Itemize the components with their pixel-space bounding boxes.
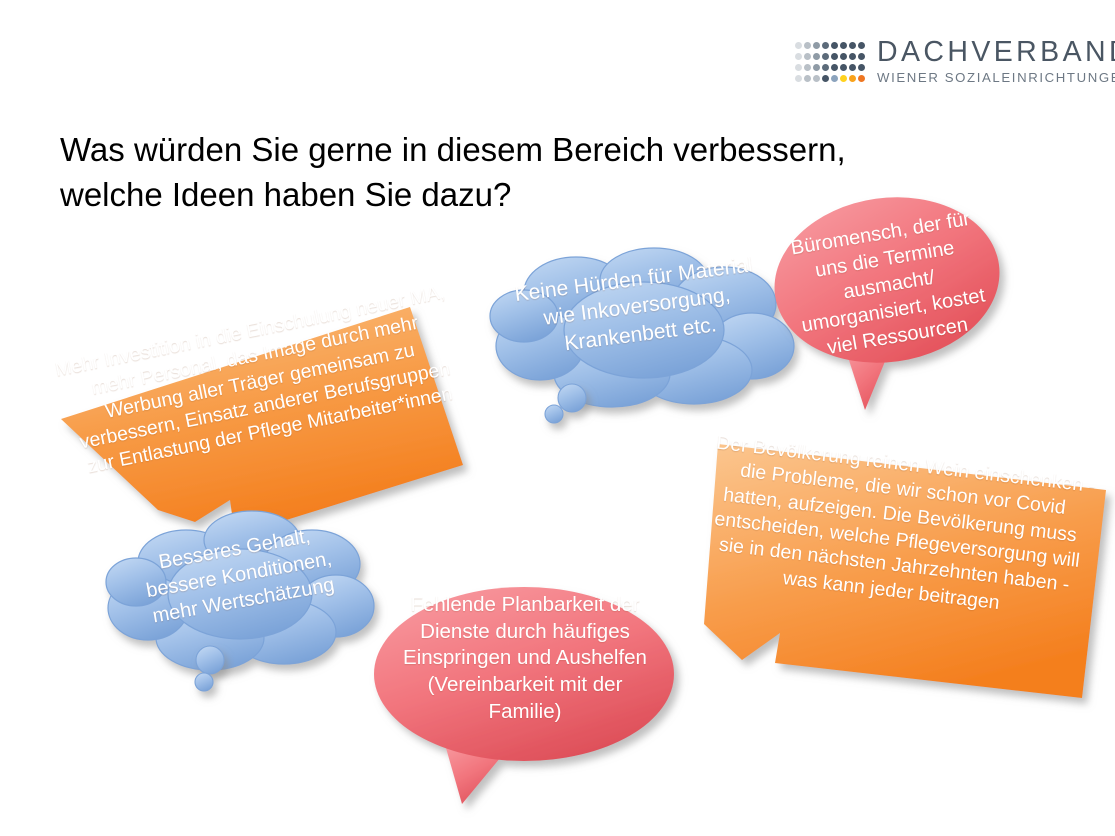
logo-dot-r1-c2	[804, 42, 811, 49]
callout-box-right-shape	[690, 428, 1110, 708]
logo-dot-grid	[795, 42, 867, 86]
logo-dot-r4-c6	[840, 75, 847, 82]
callout-box-left-shape	[40, 290, 490, 520]
logo-dot-r1-c6	[840, 42, 847, 49]
speech-ellipse-top-right-shape	[765, 192, 1015, 417]
logo-dot-r4-c5	[831, 75, 838, 82]
logo-dot-r2-c6	[840, 53, 847, 60]
logo-subtitle: WIENER SOZIALEINRICHTUNGEN	[877, 70, 1115, 85]
logo-dot-r4-c4	[822, 75, 829, 82]
logo-dot-r3-c7	[849, 64, 856, 71]
thought-cloud-bottom-left	[100, 502, 380, 707]
logo-dot-r1-c7	[849, 42, 856, 49]
logo-dot-r3-c1	[795, 64, 802, 71]
logo-wordmark: DACHVERBAND WIENER SOZIALEINRICHTUNGEN	[877, 38, 1115, 85]
logo-dot-r4-c2	[804, 75, 811, 82]
callout-box-left	[40, 290, 490, 520]
speech-ellipse-top-right	[765, 192, 1015, 417]
logo-dot-r3-c8	[858, 64, 865, 71]
logo-dot-r4-c1	[795, 75, 802, 82]
logo-dot-r1-c1	[795, 42, 802, 49]
logo-dot-r2-c3	[813, 53, 820, 60]
slide-canvas: DACHVERBAND WIENER SOZIALEINRICHTUNGEN W…	[0, 0, 1115, 836]
slide-title-line-1: Was würden Sie gerne in diesem Bereich v…	[60, 128, 1040, 173]
logo-dot-r2-c8	[858, 53, 865, 60]
logo-dot-r3-c3	[813, 64, 820, 71]
logo-dot-r1-c3	[813, 42, 820, 49]
logo-dot-r4-c8	[858, 75, 865, 82]
speech-ellipse-bottom	[368, 578, 680, 808]
logo-dot-r1-c4	[822, 42, 829, 49]
speech-ellipse-bottom-shape	[368, 578, 680, 808]
logo-dot-r1-c8	[858, 42, 865, 49]
logo-dot-r2-c2	[804, 53, 811, 60]
logo-dot-r3-c4	[822, 64, 829, 71]
thought-cloud-top	[484, 246, 804, 426]
logo-dot-r4-c7	[849, 75, 856, 82]
logo-dot-r2-c1	[795, 53, 802, 60]
thought-cloud-bottom-left-shape	[100, 502, 380, 707]
logo-dot-r2-c7	[849, 53, 856, 60]
logo-dot-r2-c5	[831, 53, 838, 60]
logo-dot-r2-c4	[822, 53, 829, 60]
thought-cloud-top-shape	[484, 246, 804, 426]
logo-dot-r3-c6	[840, 64, 847, 71]
organization-logo: DACHVERBAND WIENER SOZIALEINRICHTUNGEN	[795, 38, 1085, 96]
logo-dot-r3-c5	[831, 64, 838, 71]
logo-title: DACHVERBAND	[877, 38, 1115, 67]
logo-dot-r4-c3	[813, 75, 820, 82]
logo-dot-r1-c5	[831, 42, 838, 49]
callout-box-right	[690, 428, 1110, 708]
logo-dot-r3-c2	[804, 64, 811, 71]
